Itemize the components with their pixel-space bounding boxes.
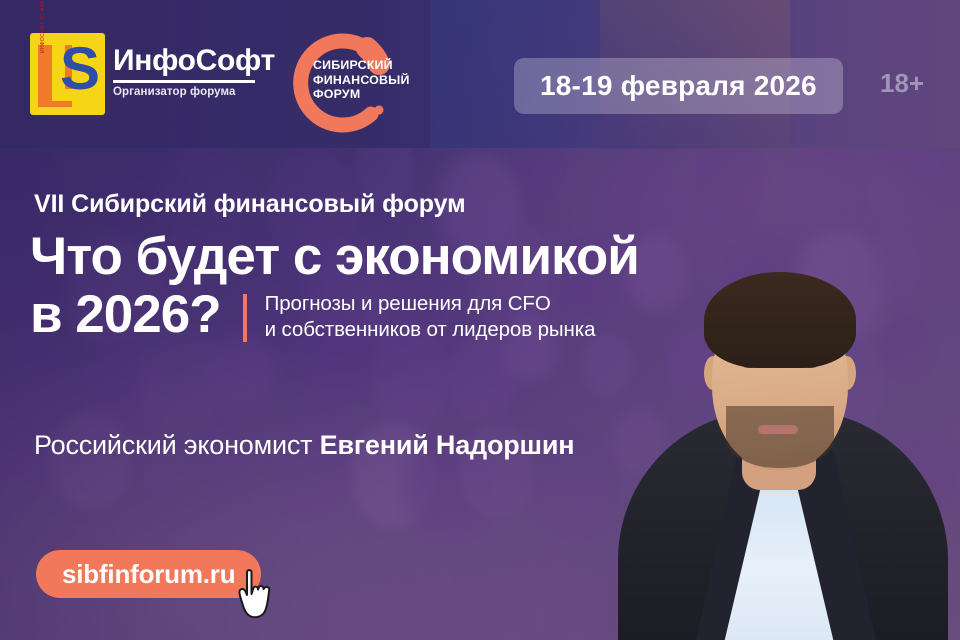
forum-logo-line-1: СИБИРСКИЙ [313,58,405,73]
forum-logo-line-2: ФИНАНСОВЫЙ [313,73,405,88]
organizer-role: Организатор форума [113,86,275,98]
event-date-badge: 18-19 февраля 2026 [514,58,843,114]
organizer-name: ИнфоСофт [113,46,275,76]
headline-block: Что будет с экономикой в 2026? Прогнозы … [30,228,710,344]
tagline-line-2: и собственников от лидеров рынка [265,317,596,343]
age-rating-label: 18+ [880,68,924,99]
forum-logo-line-3: ФОРУМ [313,87,405,102]
tagline-block: Прогнозы и решения для CFO и собственник… [265,291,596,343]
speaker-role-prefix: Российский экономист [34,430,320,460]
speaker-credit: Российский экономист Евгений Надоршин [34,430,574,461]
tagline-line-1: Прогнозы и решения для CFO [265,291,596,317]
orange-divider [243,294,247,342]
infosoft-is-monogram-icon: ИНФОСОФТ 1С:ФРАНЧАЙЗИ S [30,33,105,115]
logo-micro-text: ИНФОСОФТ 1С:ФРАНЧАЙЗИ [40,7,46,53]
siberian-forum-logo: СИБИРСКИЙ ФИНАНСОВЫЙ ФОРУМ [283,28,401,138]
banner-header: ИНФОСОФТ 1С:ФРАНЧАЙЗИ S ИнфоСофт Организ… [0,0,960,148]
speaker-portrait-photo [600,140,960,640]
website-cta-button[interactable]: sibfinforum.ru [36,550,261,598]
speaker-name: Евгений Надоршин [320,430,575,460]
brand-underline [113,80,255,83]
forum-edition-eyebrow: VII Сибирский финансовый форум [34,190,466,219]
pointing-hand-cursor-icon [236,568,280,622]
organizer-brand: ИнфоСофт Организатор форума [113,46,275,98]
event-promo-banner: ИНФОСОФТ 1С:ФРАНЧАЙЗИ S ИнфоСофт Организ… [0,0,960,640]
headline-line-1: Что будет с экономикой [30,228,710,286]
headline-line-2: в 2026? [30,286,221,344]
forum-logo-text: СИБИРСКИЙ ФИНАНСОВЫЙ ФОРУМ [313,58,405,102]
